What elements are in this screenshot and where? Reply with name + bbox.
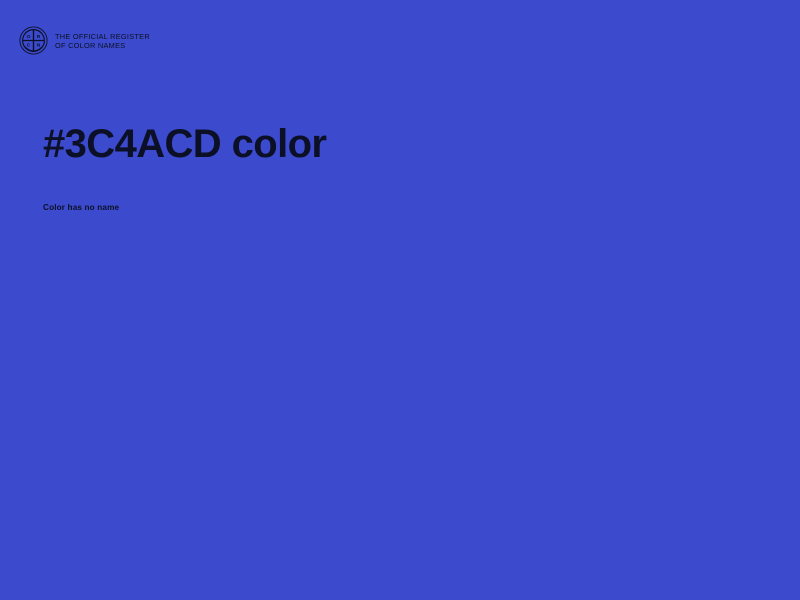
svg-text:N: N: [37, 42, 41, 48]
color-info-section: #3C4ACD color Color has no name: [43, 118, 743, 212]
brand-wordmark-line-2: OF COLOR NAMES: [55, 41, 150, 50]
brand-wordmark-line-1: THE OFFICIAL REGISTER: [55, 32, 150, 41]
brand-logo[interactable]: O R C N THE OFFICIAL REGISTER OF COLOR N…: [19, 26, 150, 55]
page-title: #3C4ACD color: [43, 118, 743, 170]
svg-text:C: C: [27, 42, 31, 48]
svg-text:R: R: [37, 34, 41, 40]
color-page: O R C N THE OFFICIAL REGISTER OF COLOR N…: [0, 0, 800, 600]
color-name-status: Color has no name: [43, 170, 743, 212]
svg-text:O: O: [27, 34, 31, 40]
official-register-seal-icon: O R C N: [19, 26, 48, 55]
brand-wordmark: THE OFFICIAL REGISTER OF COLOR NAMES: [55, 32, 150, 50]
